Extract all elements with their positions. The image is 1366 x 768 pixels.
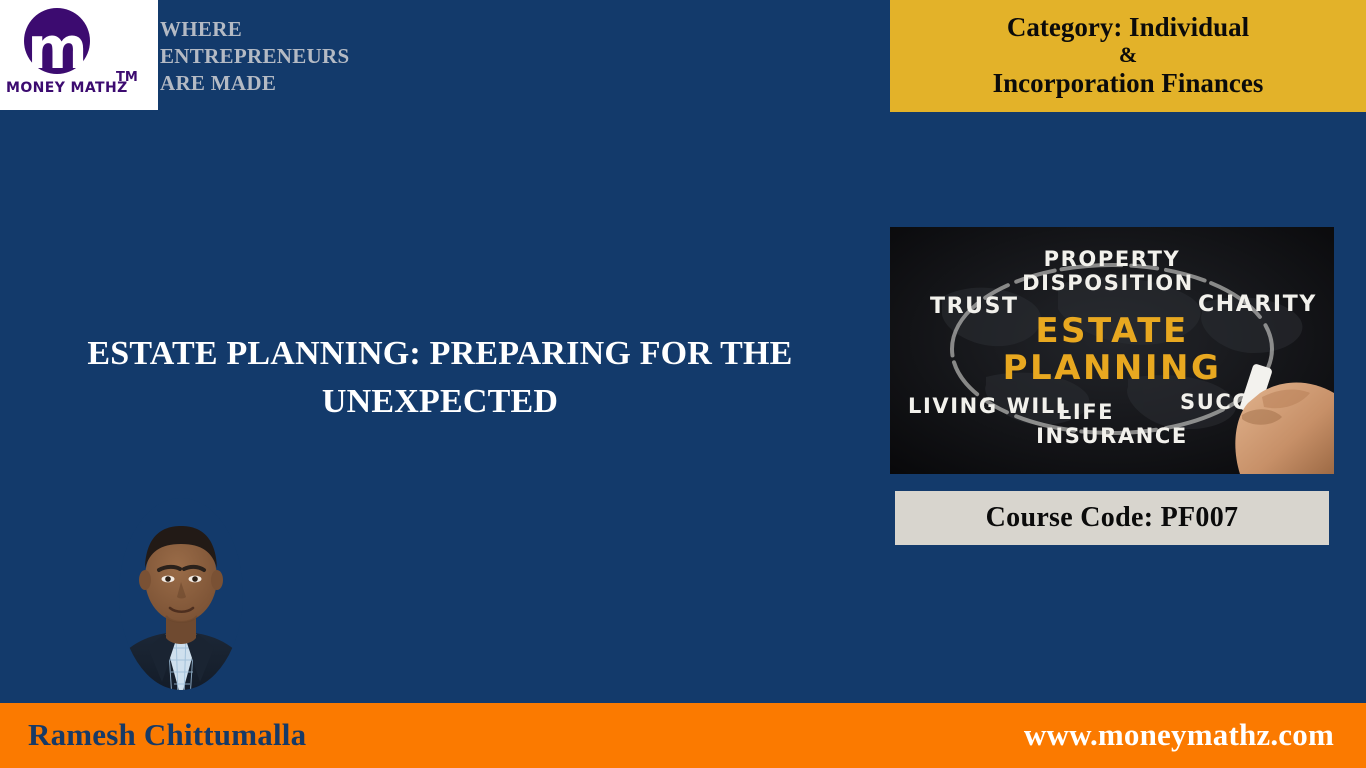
chalk-label-living-will: LIVING WILL	[908, 394, 1071, 418]
website-url[interactable]: www.moneymathz.com	[1024, 717, 1334, 753]
tagline-line-3: ARE MADE	[160, 70, 349, 97]
presentation-slide: m TM MONEY MATHZ WHERE ENTREPRENEURS ARE…	[0, 0, 1366, 768]
chalk-label-insurance: INSURANCE	[1036, 424, 1188, 448]
category-line-3: Incorporation Finances	[993, 66, 1264, 100]
chalk-label-charity: CHARITY	[1198, 292, 1317, 317]
presenter-photo	[106, 498, 256, 700]
tagline-line-1: WHERE	[160, 16, 349, 43]
category-line-1: Category: Individual	[1007, 10, 1249, 44]
page-title: ESTATE PLANNING: PREPARING FOR THE UNEXP…	[10, 330, 870, 426]
category-banner: Category: Individual & Incorporation Fin…	[890, 0, 1366, 112]
brand-wordmark: MONEY MATHZ	[6, 80, 128, 96]
chalk-center-estate: ESTATE	[1035, 311, 1188, 351]
brand-logo-box: m TM MONEY MATHZ	[0, 0, 158, 110]
brand-tagline: WHERE ENTREPRENEURS ARE MADE	[160, 16, 349, 97]
category-line-2: &	[1119, 44, 1137, 66]
chalk-label-life: LIFE	[1058, 400, 1114, 424]
chalk-label-disposition: DISPOSITION	[1022, 271, 1194, 295]
presenter-name: Ramesh Chittumalla	[28, 717, 306, 753]
course-code-badge: Course Code: PF007	[895, 491, 1329, 545]
logo-letter-m: m	[24, 8, 90, 74]
tagline-line-2: ENTREPRENEURS	[160, 43, 349, 70]
footer-bar: Ramesh Chittumalla www.moneymathz.com	[0, 703, 1366, 768]
chalk-center-planning: PLANNING	[1003, 348, 1222, 388]
blackboard-image: PROPERTY DISPOSITION TRUST CHARITY LIVIN…	[890, 227, 1334, 474]
chalk-label-trust: TRUST	[930, 294, 1019, 319]
chalk-label-property: PROPERTY	[1044, 247, 1181, 271]
